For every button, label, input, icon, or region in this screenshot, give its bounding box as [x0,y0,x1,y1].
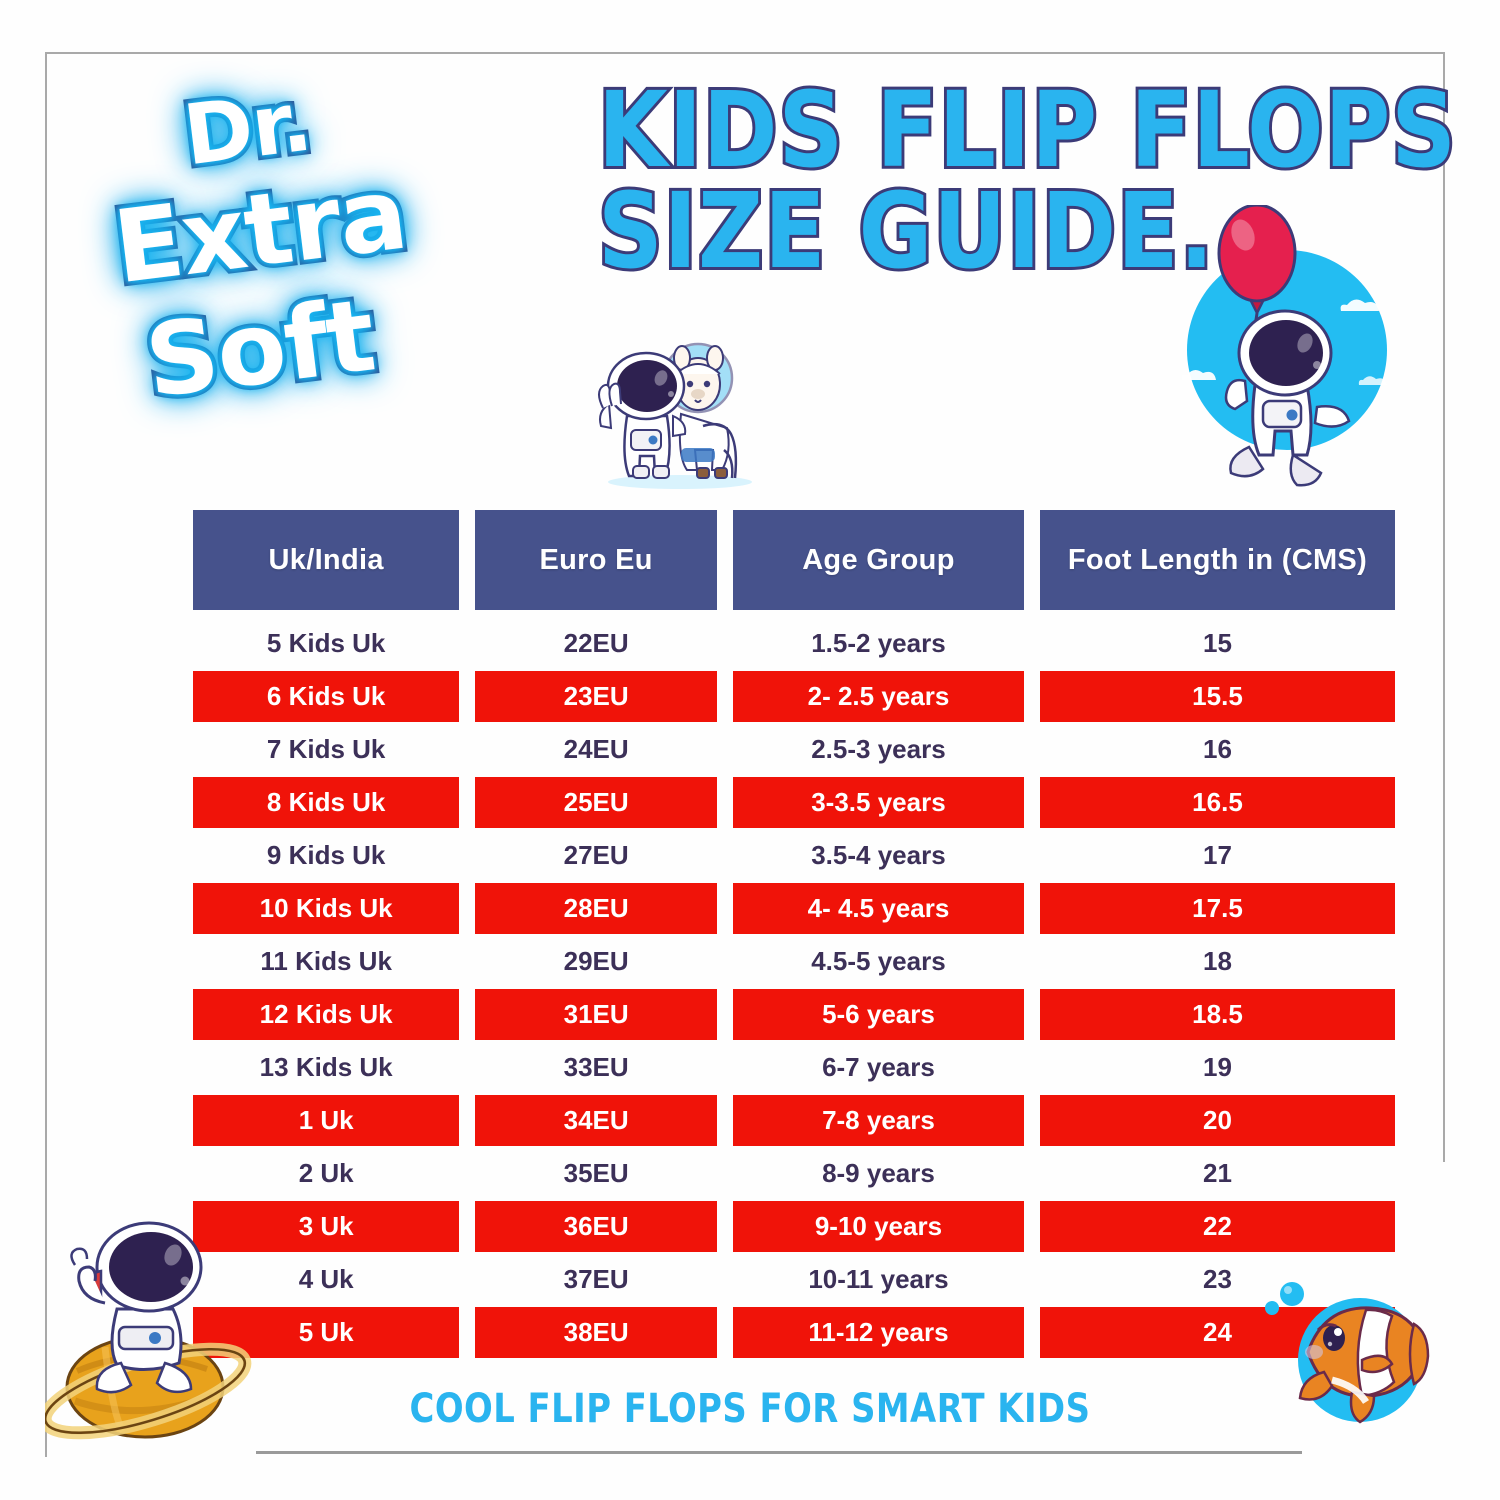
cell-euro-eu: 34EU [475,1095,717,1146]
cell-age-group: 3.5-4 years [733,830,1024,881]
cell-foot-length: 15.5 [1040,671,1395,722]
cell-uk-india: 9 Kids Uk [193,830,459,881]
cell-age-group: 2.5-3 years [733,724,1024,775]
column-header-euro-eu: Euro Eu [475,510,717,610]
table-row: 4 Uk37EU10-11 years23 [193,1254,1395,1307]
column-header-age-group: Age Group [733,510,1024,610]
cell-euro-eu: 25EU [475,777,717,828]
table-body: 5 Kids Uk22EU1.5-2 years156 Kids Uk23EU2… [193,618,1395,1360]
cell-euro-eu: 22EU [475,618,717,669]
cell-uk-india: 7 Kids Uk [193,724,459,775]
table-row: 10 Kids Uk28EU4- 4.5 years17.5 [193,883,1395,936]
cell-uk-india: 13 Kids Uk [193,1042,459,1093]
table-row: 1 Uk34EU7-8 years20 [193,1095,1395,1148]
cell-age-group: 6-7 years [733,1042,1024,1093]
cell-euro-eu: 27EU [475,830,717,881]
cell-euro-eu: 31EU [475,989,717,1040]
footer-divider [256,1451,1302,1454]
cell-foot-length: 22 [1040,1201,1395,1252]
cell-uk-india: 5 Kids Uk [193,618,459,669]
frame-border-top [45,52,1444,54]
cell-foot-length: 15 [1040,618,1395,669]
cell-foot-length: 17 [1040,830,1395,881]
footer-tagline: COOL FLIP FLOPS FOR SMART KIDS [45,1386,1455,1432]
cell-euro-eu: 28EU [475,883,717,934]
cell-age-group: 7-8 years [733,1095,1024,1146]
table-row: 7 Kids Uk24EU2.5-3 years16 [193,724,1395,777]
cell-euro-eu: 38EU [475,1307,717,1358]
table-row: 13 Kids Uk33EU6-7 years19 [193,1042,1395,1095]
cell-age-group: 11-12 years [733,1307,1024,1358]
table-header-row: Uk/India Euro Eu Age Group Foot Length i… [193,510,1395,618]
astronaut-and-alpaca-icon [585,330,775,490]
size-guide-table: Uk/India Euro Eu Age Group Foot Length i… [193,510,1395,1360]
cell-foot-length: 16.5 [1040,777,1395,828]
table-row: 2 Uk35EU8-9 years21 [193,1148,1395,1201]
cell-foot-length: 17.5 [1040,883,1395,934]
cell-foot-length: 16 [1040,724,1395,775]
table-row: 11 Kids Uk29EU4.5-5 years18 [193,936,1395,989]
cell-uk-india: 6 Kids Uk [193,671,459,722]
cell-uk-india: 1 Uk [193,1095,459,1146]
cell-age-group: 3-3.5 years [733,777,1024,828]
cell-age-group: 2- 2.5 years [733,671,1024,722]
astronaut-with-balloon-icon [1165,205,1410,490]
dr-extra-soft-logo: Dr. Extra Soft [96,78,468,438]
cell-euro-eu: 37EU [475,1254,717,1305]
cell-uk-india: 10 Kids Uk [193,883,459,934]
table-row: 6 Kids Uk23EU2- 2.5 years15.5 [193,671,1395,724]
size-guide-poster: Dr. Extra Soft KIDS FLIP FLOPS SIZE GUID… [0,0,1500,1500]
page-title-line-1: KIDS FLIP FLOPS [598,80,1376,181]
cell-age-group: 9-10 years [733,1201,1024,1252]
cell-uk-india: 8 Kids Uk [193,777,459,828]
cell-foot-length: 19 [1040,1042,1395,1093]
table-row: 5 Uk38EU11-12 years24 [193,1307,1395,1360]
column-header-uk-india: Uk/India [193,510,459,610]
cell-age-group: 1.5-2 years [733,618,1024,669]
cell-euro-eu: 24EU [475,724,717,775]
cell-euro-eu: 29EU [475,936,717,987]
cell-age-group: 5-6 years [733,989,1024,1040]
table-row: 3 Uk36EU9-10 years22 [193,1201,1395,1254]
cell-foot-length: 21 [1040,1148,1395,1199]
cell-uk-india: 11 Kids Uk [193,936,459,987]
table-row: 12 Kids Uk31EU5-6 years18.5 [193,989,1395,1042]
cell-age-group: 4- 4.5 years [733,883,1024,934]
cell-euro-eu: 23EU [475,671,717,722]
cell-euro-eu: 36EU [475,1201,717,1252]
cell-age-group: 8-9 years [733,1148,1024,1199]
cell-age-group: 4.5-5 years [733,936,1024,987]
cell-foot-length: 20 [1040,1095,1395,1146]
table-row: 9 Kids Uk27EU3.5-4 years17 [193,830,1395,883]
cell-uk-india: 12 Kids Uk [193,989,459,1040]
table-row: 5 Kids Uk22EU1.5-2 years15 [193,618,1395,671]
cell-foot-length: 18.5 [1040,989,1395,1040]
cell-foot-length: 18 [1040,936,1395,987]
cell-euro-eu: 35EU [475,1148,717,1199]
cell-euro-eu: 33EU [475,1042,717,1093]
table-row: 8 Kids Uk25EU3-3.5 years16.5 [193,777,1395,830]
cell-age-group: 10-11 years [733,1254,1024,1305]
cell-uk-india: 2 Uk [193,1148,459,1199]
column-header-foot-length: Foot Length in (CMS) [1040,510,1395,610]
frame-border-right [1443,52,1445,1162]
